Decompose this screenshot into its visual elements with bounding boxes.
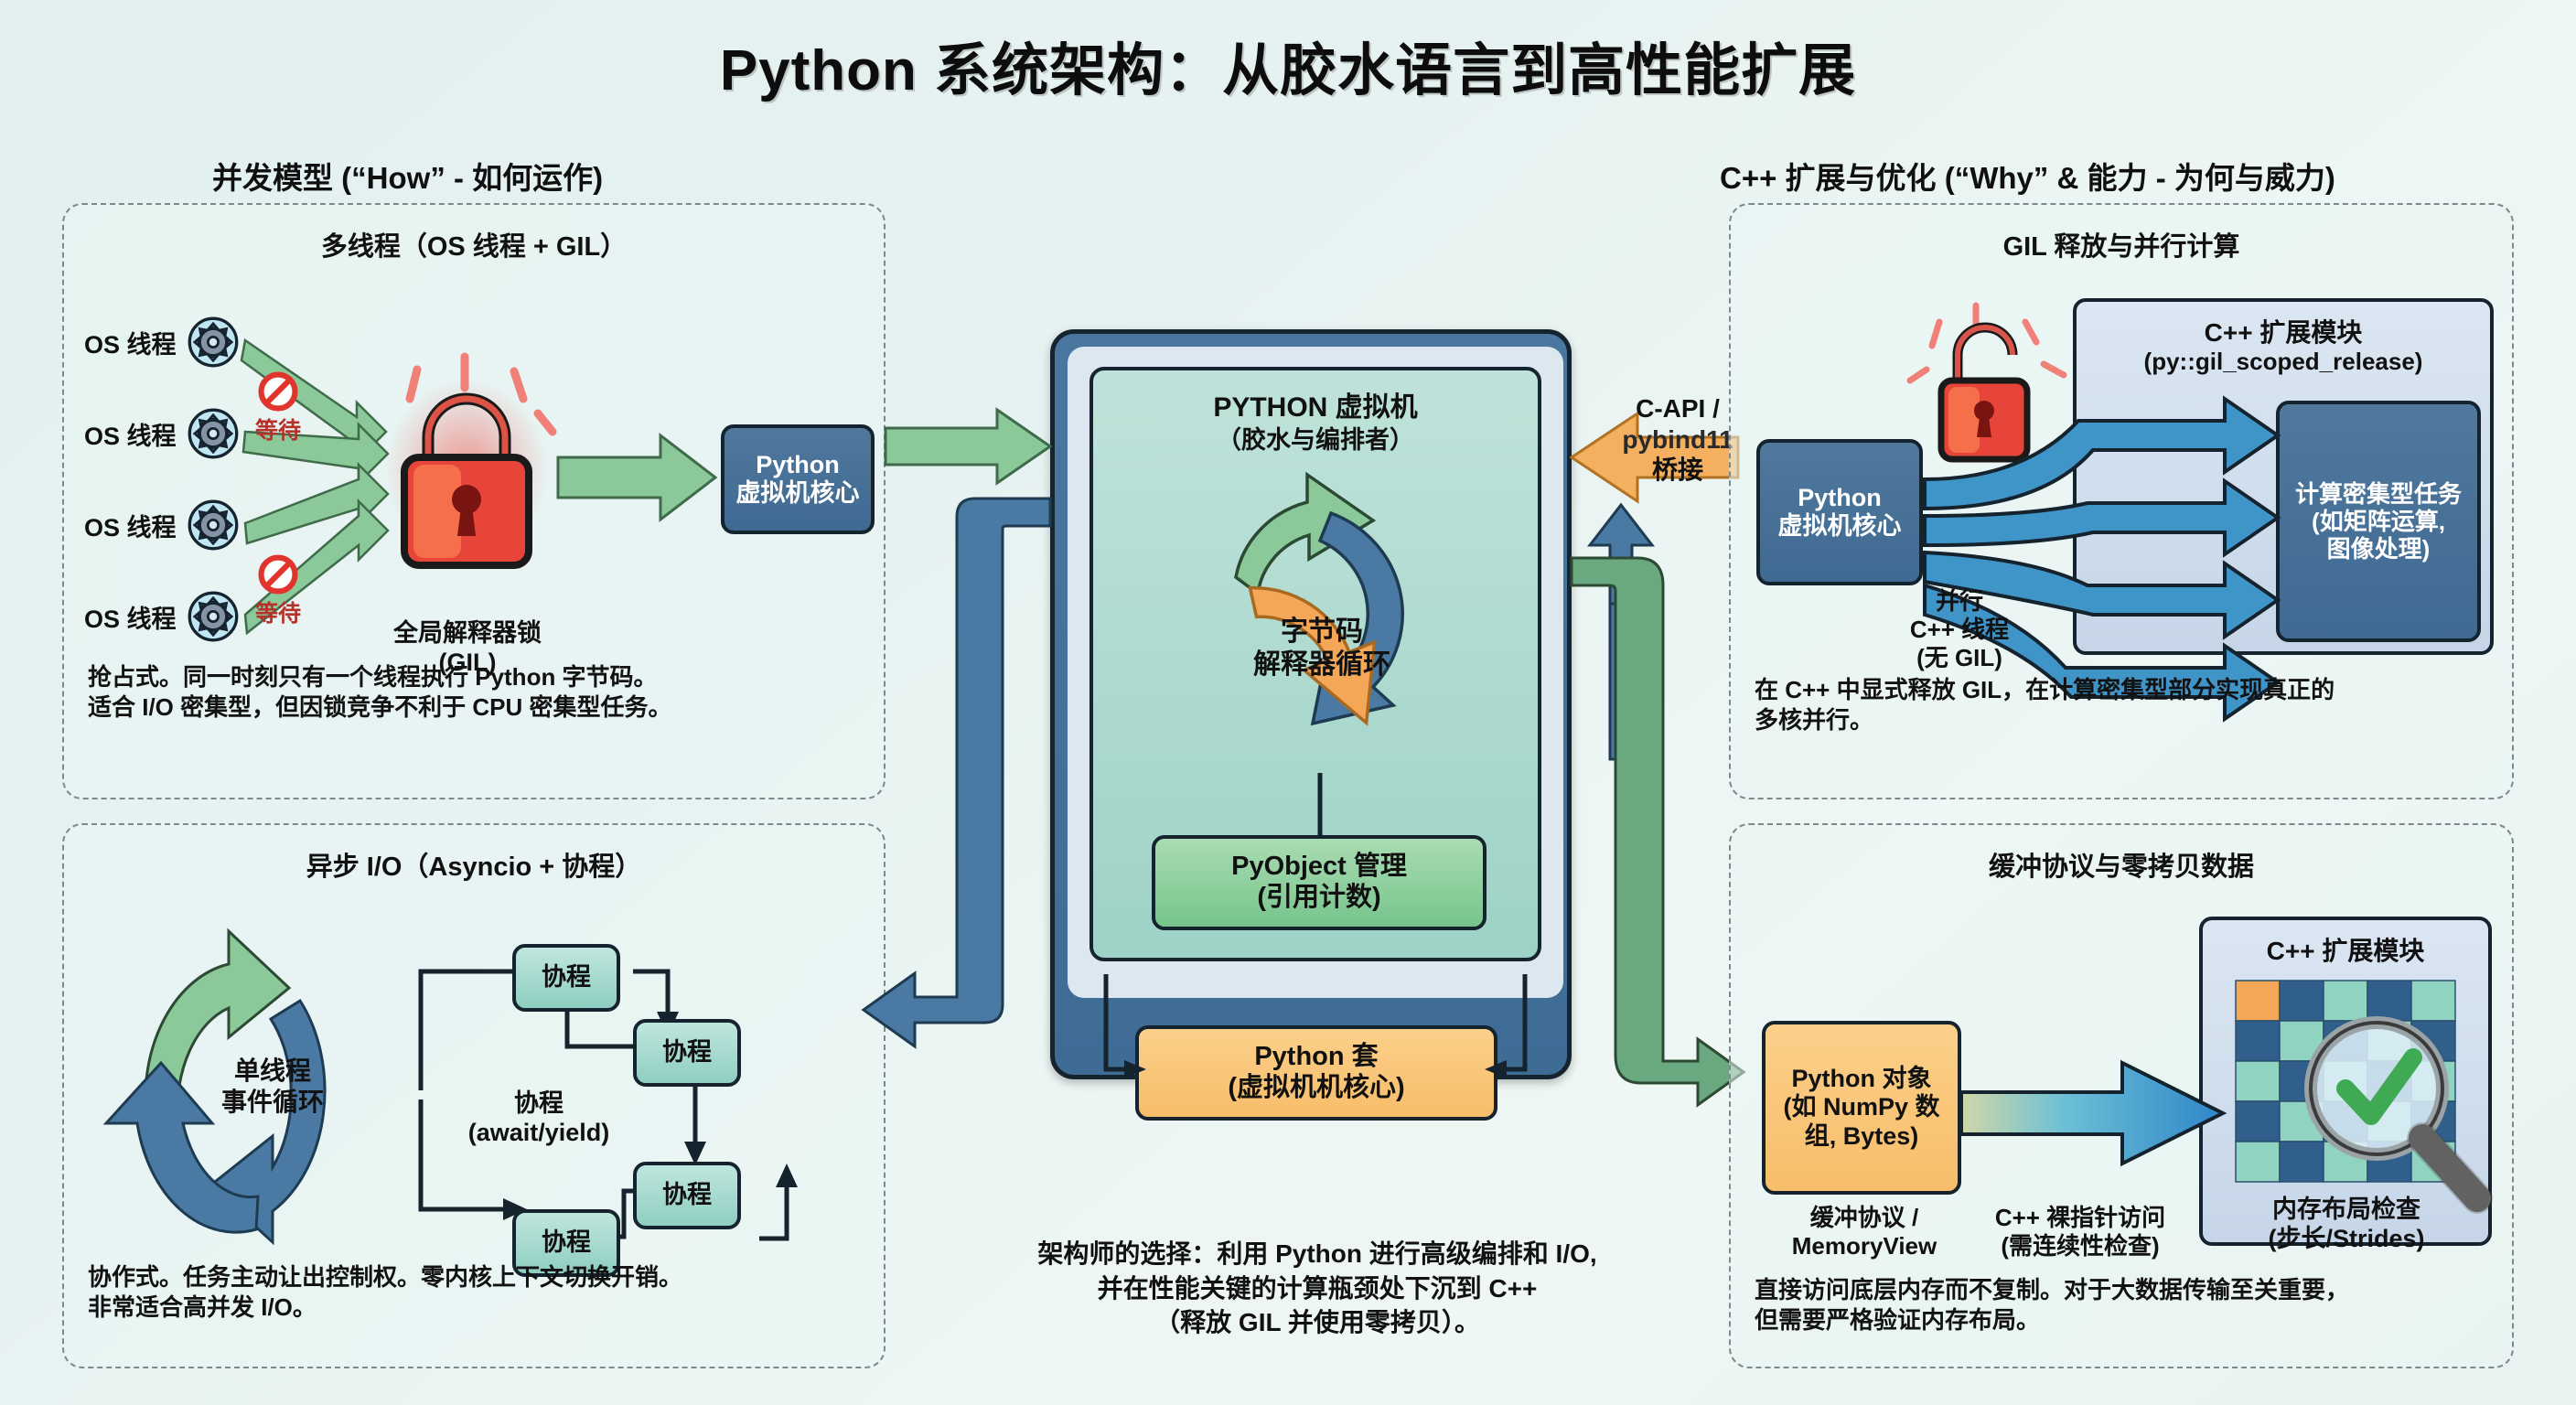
panel-buffer-protocol-title: 缓冲协议与零拷贝数据 [1731, 845, 2512, 884]
memory-layout-check: 内存布局检查 (步长/Strides) [2205, 1195, 2488, 1254]
wait-label-2: 等待 [234, 600, 322, 627]
mt-python-vm-core: Python 虚拟机核心 [721, 424, 875, 534]
arrow-gilpanel-to-vm [1590, 505, 1652, 759]
parallel-cpp-thread-label: 并行 C++ 线程 (无 GIL) [1868, 587, 2051, 673]
lock-to-core-arrow [558, 424, 723, 534]
no-entry-icon [258, 554, 298, 595]
panel-multithreading: 多线程（OS 线程 + GIL） OS 线程 OS 线程 [62, 203, 885, 799]
panel-async-io-note: 协作式。任务主动让出控制权。零内核上下文切换开销。 非常适合高并发 I/O。 [88, 1262, 865, 1324]
arrow-mt-to-vm [885, 410, 1050, 483]
arrow-vm-to-async [864, 499, 1050, 1046]
diagram-canvas: Python 系统架构：从胶水语言到高性能扩展 并发模型 (“How” - 如何… [0, 0, 2576, 1405]
arrow-async-to-vm [885, 565, 1015, 959]
panel-buffer-protocol-note: 直接访问底层内存而不复制。对于大数据传输至关重要， 但需要严格验证内存布局。 [1755, 1275, 2494, 1336]
panel-multithreading-note: 抢占式。同一时刻只有一个线程执行 Python 字节码。 适合 I/O 密集型，… [88, 662, 865, 724]
arrow-vm-to-buffer [1572, 558, 1744, 1105]
python-vm-container: PYTHON 虚拟机 （胶水与编排者） 字节码 解释器循环 PyObject 管… [1050, 329, 1572, 1079]
bytecode-loop-label: 字节码 解释器循环 [1198, 616, 1445, 681]
left-column-title: 并发模型 (“How” - 如何运作) [212, 154, 603, 198]
compute-intensive-task-box: 计算密集型任务 (如矩阵运算, 图像处理) [2276, 401, 2481, 642]
wait-label-1: 等待 [234, 417, 322, 445]
python-vm-heading: PYTHON 虚拟机 （胶水与编排者） [1093, 391, 1538, 456]
loop-to-pyobject-line [1309, 773, 1331, 839]
panel-buffer-protocol: 缓冲协议与零拷贝数据 C++ 扩展模块 [1729, 823, 2514, 1368]
coroutine-box-1: 协程 [512, 944, 620, 1012]
await-yield-label: 协程 (await/yield) [434, 1089, 644, 1148]
panel-gil-release-title: GIL 释放与并行计算 [1731, 225, 2512, 263]
panel-gil-release-note: 在 C++ 中显式释放 GIL，在计算密集型部分实现真正的 多核并行。 [1755, 675, 2494, 736]
arrow-vm-to-mt-return [931, 512, 1050, 622]
arrow-green-up-to-vm [971, 574, 1050, 1079]
panel-async-io: 异步 I/O（Asyncio + 协程） 单线程 事件循环 [62, 823, 885, 1368]
architect-choice-note: 架构师的选择：利用 Python 进行高级编排和 I/O, 并在性能关键的计算瓶… [915, 1237, 1720, 1340]
panel-async-io-title: 异步 I/O（Asyncio + 协程） [64, 845, 884, 884]
gil-lock-group [357, 342, 576, 617]
magnifier-check-icon [2289, 1004, 2499, 1224]
pyobject-management-box: PyObject 管理 (引用计数) [1152, 835, 1487, 930]
panel-gil-release: GIL 释放与并行计算 C++ 扩展模块 (py::gil_scoped_rel… [1729, 203, 2514, 799]
event-loop-label: 单线程 事件循环 [172, 1056, 373, 1117]
raw-pointer-caption: C++ 裸指针访问 (需连续性检查) [1961, 1204, 2199, 1260]
coroutine-box-2: 协程 [633, 1019, 741, 1087]
buffer-protocol-caption: 缓冲协议 / MemoryView [1762, 1204, 1967, 1260]
right-column-title: C++ 扩展与优化 (“Why” & 能力 - 为何与威力) [1720, 154, 2335, 198]
lock-closed-icon [357, 342, 576, 617]
python-object-box: Python 对象 (如 NumPy 数 组, Bytes) [1762, 1021, 1961, 1195]
coroutine-box-3: 协程 [633, 1162, 741, 1229]
python-vm-inner: PYTHON 虚拟机 （胶水与编排者） 字节码 解释器循环 PyObject 管… [1089, 367, 1541, 961]
page-title: Python 系统架构：从胶水语言到高性能扩展 [0, 24, 2576, 106]
gil-python-vm-core: Python 虚拟机核心 [1756, 439, 1923, 585]
zero-copy-arrow [1961, 1054, 2227, 1173]
socket-connectors [1068, 974, 1563, 1084]
no-entry-icon [258, 371, 298, 412]
